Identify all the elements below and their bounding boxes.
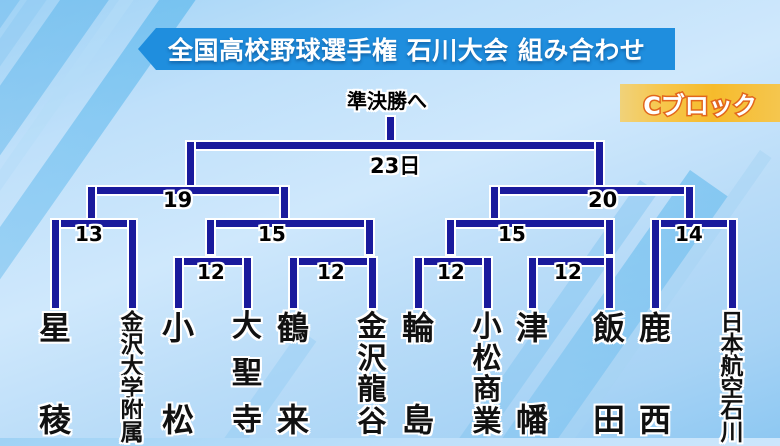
team-char: 小	[472, 312, 501, 341]
team-stem-2	[127, 218, 138, 310]
final-left-drop	[185, 140, 196, 188]
team-char: 谷	[357, 407, 386, 436]
final-date: 23日	[370, 150, 420, 180]
team-char: 松	[472, 344, 501, 373]
team-stem-6	[367, 256, 378, 310]
team-char: 聖	[232, 359, 262, 389]
team-char: 松	[162, 404, 194, 436]
team-char: 津	[516, 312, 548, 344]
team-stem-7	[413, 256, 424, 310]
round1-left-drop-b	[364, 218, 375, 256]
round1-date-15-left: 15	[258, 222, 286, 246]
round0-date-2: 12	[317, 260, 345, 284]
team-label: 輪島	[399, 312, 437, 436]
round0-date-1: 12	[197, 260, 225, 284]
team-char: 沢	[357, 344, 386, 373]
round1-left-drop-a	[205, 218, 216, 256]
team-stem-9	[527, 256, 538, 310]
team-stem-5	[288, 256, 299, 310]
team-stem-10	[604, 256, 615, 310]
round1-date-14: 14	[675, 222, 703, 246]
team-label: 津幡	[513, 312, 551, 436]
team-label: 金沢大学附属	[113, 312, 151, 436]
round1-date-15-right: 15	[498, 222, 526, 246]
team-char: 星	[39, 312, 71, 344]
team-char: 属	[121, 422, 144, 445]
team-stem-8	[482, 256, 493, 310]
round0-date-3: 12	[437, 260, 465, 284]
round1-date-13: 13	[75, 222, 103, 246]
team-char: 業	[472, 407, 501, 436]
team-char: 川	[721, 422, 744, 445]
round2-date-left: 19	[163, 188, 192, 212]
team-label: 星稜	[36, 312, 74, 436]
team-char: 幡	[516, 404, 548, 436]
round0-date-4: 12	[554, 260, 582, 284]
team-char: 鹿	[639, 312, 671, 344]
team-char: 島	[402, 404, 434, 436]
round1-bar-15-right	[445, 218, 615, 229]
team-char: 輪	[402, 312, 434, 344]
team-char: 飯	[593, 312, 625, 344]
team-char: 龍	[357, 375, 386, 404]
team-char: 西	[639, 404, 671, 436]
team-char: 小	[162, 312, 194, 344]
round1-right-drop-a	[445, 218, 456, 256]
advance-label: 準決勝へ	[347, 85, 427, 114]
final-right-drop	[594, 140, 605, 188]
team-char: 商	[472, 375, 501, 404]
team-label: 小松商業	[468, 312, 506, 436]
team-char: 来	[277, 404, 309, 436]
team-char: 鶴	[277, 312, 309, 344]
team-label: 飯田	[590, 312, 628, 436]
team-stem-4	[242, 256, 253, 310]
team-char: 大	[232, 312, 262, 342]
team-stem-11	[650, 218, 661, 310]
team-label: 小松	[159, 312, 197, 436]
team-label: 金沢龍谷	[353, 312, 391, 436]
team-char: 稜	[39, 404, 71, 436]
team-label: 鹿西	[636, 312, 674, 436]
team-char: 金	[357, 312, 386, 341]
team-label: 鶴来	[274, 312, 312, 436]
round1-bar-15-left	[205, 218, 375, 229]
team-stem-12	[727, 218, 738, 310]
team-char: 田	[593, 404, 625, 436]
team-label: 日本航空石川	[713, 312, 751, 436]
round1-right-drop-b	[604, 218, 615, 256]
team-stem-1	[50, 218, 61, 310]
team-label: 大聖寺	[228, 312, 266, 436]
team-char: 寺	[232, 406, 262, 436]
round2-date-right: 20	[588, 188, 617, 212]
team-stem-3	[173, 256, 184, 310]
